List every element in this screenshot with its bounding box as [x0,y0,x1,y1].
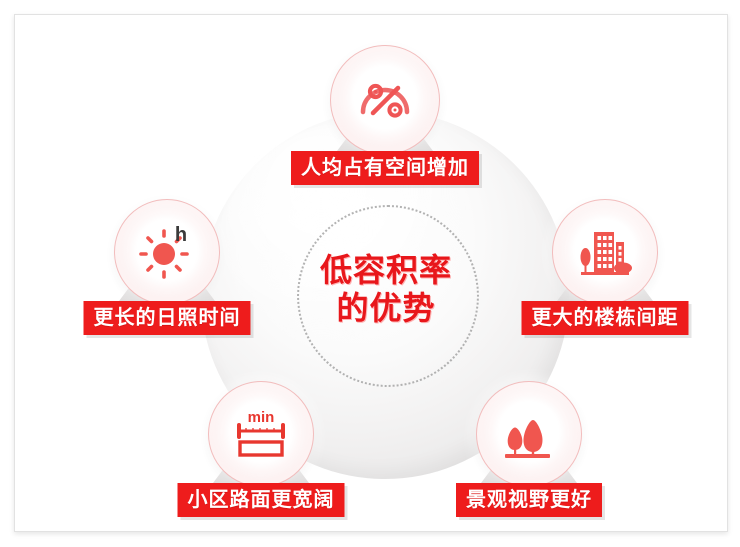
bubble-top[interactable] [330,45,440,155]
center-headline-line2: 的优势 [277,289,495,327]
label-bottom-right[interactable]: 景观视野更好 [456,483,602,517]
infographic-stage: 低容积率 的优势 人均占有空间增加 [0,0,740,547]
label-top[interactable]: 人均占有空间增加 [291,151,479,185]
label-bottom-left[interactable]: 小区路面更宽阔 [178,483,345,517]
infographic-card: 低容积率 的优势 人均占有空间增加 [14,14,728,532]
label-right[interactable]: 更大的楼栋间距 [522,301,689,335]
center-headline-line1: 低容积率 [320,252,452,288]
bubble-bottom-left[interactable]: min [208,381,314,487]
bubble-right[interactable] [552,199,658,305]
buildings-spacing-icon [573,220,637,284]
min-ruler-text: min [248,409,275,426]
percent-gauge-icon [353,68,417,132]
bubble-bottom-right[interactable] [476,381,582,487]
sun-icon-hours-text: h [175,224,187,246]
trees-landscape-icon [497,402,561,466]
sun-hours-icon: h [135,220,199,284]
min-width-ruler-icon: min [229,402,293,466]
bubble-left[interactable]: h [114,199,220,305]
center-headline: 低容积率 的优势 [277,251,495,327]
label-left[interactable]: 更长的日照时间 [84,301,251,335]
